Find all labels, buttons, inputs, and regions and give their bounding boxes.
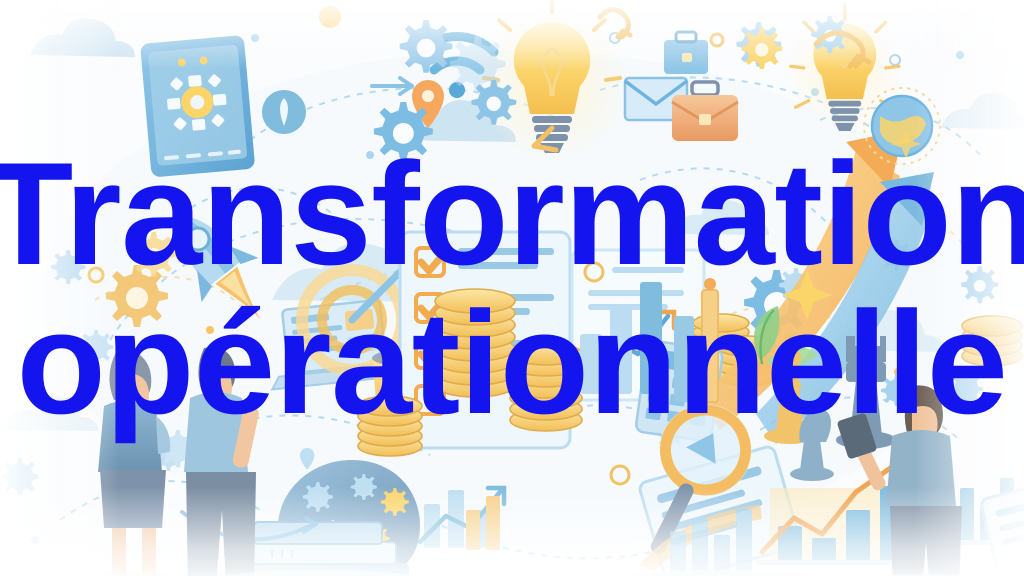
background-illustration bbox=[0, 0, 1024, 576]
tablet-device bbox=[140, 35, 255, 178]
banner-image: Transformation opérationnelle bbox=[0, 0, 1024, 576]
globe-icon-small bbox=[262, 90, 306, 134]
